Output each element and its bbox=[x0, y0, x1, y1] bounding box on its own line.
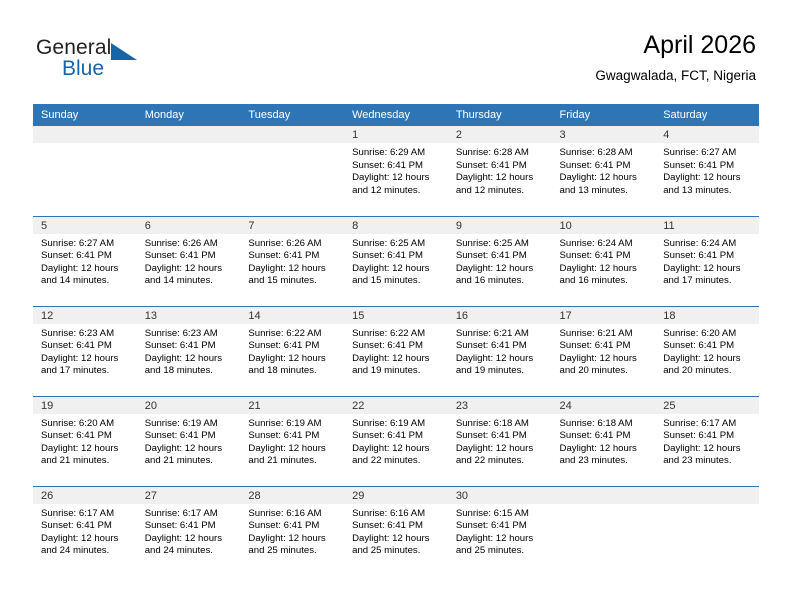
sunset-text: Sunset: 6:41 PM bbox=[41, 340, 131, 353]
sunset-text: Sunset: 6:41 PM bbox=[41, 250, 131, 263]
day-number: 13 bbox=[137, 307, 241, 324]
daylight-text-line1: Daylight: 12 hours bbox=[663, 353, 753, 366]
day-number bbox=[33, 126, 137, 143]
sunset-text: Sunset: 6:41 PM bbox=[663, 250, 753, 263]
sunset-text: Sunset: 6:41 PM bbox=[41, 430, 131, 443]
daylight-text-line2: and 24 minutes. bbox=[41, 545, 131, 558]
daylight-text-line1: Daylight: 12 hours bbox=[352, 443, 442, 456]
daylight-text-line2: and 13 minutes. bbox=[560, 185, 650, 198]
daylight-text-line1: Daylight: 12 hours bbox=[663, 263, 753, 276]
daylight-text-line2: and 14 minutes. bbox=[145, 275, 235, 288]
daylight-text-line1: Daylight: 12 hours bbox=[352, 172, 442, 185]
day-details: Sunrise: 6:20 AMSunset: 6:41 PMDaylight:… bbox=[33, 414, 137, 468]
daylight-text-line2: and 21 minutes. bbox=[145, 455, 235, 468]
sunset-text: Sunset: 6:41 PM bbox=[248, 430, 338, 443]
sunset-text: Sunset: 6:41 PM bbox=[456, 430, 546, 443]
sunrise-text: Sunrise: 6:25 AM bbox=[352, 238, 442, 251]
daylight-text-line1: Daylight: 12 hours bbox=[560, 443, 650, 456]
sunset-text: Sunset: 6:41 PM bbox=[145, 430, 235, 443]
day-number: 15 bbox=[344, 307, 448, 324]
daylight-text-line1: Daylight: 12 hours bbox=[352, 263, 442, 276]
day-number bbox=[240, 126, 344, 143]
sunset-text: Sunset: 6:41 PM bbox=[560, 340, 650, 353]
day-details: Sunrise: 6:29 AMSunset: 6:41 PMDaylight:… bbox=[344, 143, 448, 197]
day-details: Sunrise: 6:28 AMSunset: 6:41 PMDaylight:… bbox=[552, 143, 656, 197]
day-number: 11 bbox=[655, 217, 759, 234]
sunset-text: Sunset: 6:41 PM bbox=[352, 520, 442, 533]
calendar-day-cell[interactable]: 17Sunrise: 6:21 AMSunset: 6:41 PMDayligh… bbox=[552, 306, 656, 396]
day-details: Sunrise: 6:18 AMSunset: 6:41 PMDaylight:… bbox=[552, 414, 656, 468]
sunrise-text: Sunrise: 6:23 AM bbox=[145, 328, 235, 341]
daylight-text-line2: and 25 minutes. bbox=[352, 545, 442, 558]
daylight-text-line2: and 19 minutes. bbox=[456, 365, 546, 378]
sunrise-text: Sunrise: 6:26 AM bbox=[145, 238, 235, 251]
daylight-text-line1: Daylight: 12 hours bbox=[560, 353, 650, 366]
calendar-cell-empty bbox=[33, 126, 137, 216]
daylight-text-line2: and 12 minutes. bbox=[352, 185, 442, 198]
sunrise-text: Sunrise: 6:21 AM bbox=[456, 328, 546, 341]
day-details: Sunrise: 6:26 AMSunset: 6:41 PMDaylight:… bbox=[137, 234, 241, 288]
day-number: 30 bbox=[448, 487, 552, 504]
day-details: Sunrise: 6:22 AMSunset: 6:41 PMDaylight:… bbox=[344, 324, 448, 378]
day-details: Sunrise: 6:16 AMSunset: 6:41 PMDaylight:… bbox=[344, 504, 448, 558]
daylight-text-line1: Daylight: 12 hours bbox=[41, 263, 131, 276]
daylight-text-line1: Daylight: 12 hours bbox=[663, 172, 753, 185]
calendar-day-cell[interactable]: 28Sunrise: 6:16 AMSunset: 6:41 PMDayligh… bbox=[240, 486, 344, 576]
sunset-text: Sunset: 6:41 PM bbox=[352, 160, 442, 173]
sunrise-text: Sunrise: 6:19 AM bbox=[248, 418, 338, 431]
day-details: Sunrise: 6:17 AMSunset: 6:41 PMDaylight:… bbox=[33, 504, 137, 558]
daylight-text-line1: Daylight: 12 hours bbox=[41, 353, 131, 366]
calendar-day-cell[interactable]: 5Sunrise: 6:27 AMSunset: 6:41 PMDaylight… bbox=[33, 216, 137, 306]
sunrise-text: Sunrise: 6:22 AM bbox=[248, 328, 338, 341]
day-number: 1 bbox=[344, 126, 448, 143]
sunrise-text: Sunrise: 6:27 AM bbox=[41, 238, 131, 251]
sunrise-text: Sunrise: 6:21 AM bbox=[560, 328, 650, 341]
sunrise-text: Sunrise: 6:19 AM bbox=[352, 418, 442, 431]
daylight-text-line2: and 13 minutes. bbox=[663, 185, 753, 198]
daylight-text-line1: Daylight: 12 hours bbox=[663, 443, 753, 456]
calendar-cell-empty bbox=[137, 126, 241, 216]
daylight-text-line1: Daylight: 12 hours bbox=[352, 353, 442, 366]
day-details: Sunrise: 6:15 AMSunset: 6:41 PMDaylight:… bbox=[448, 504, 552, 558]
calendar-day-cell[interactable]: 6Sunrise: 6:26 AMSunset: 6:41 PMDaylight… bbox=[137, 216, 241, 306]
sunrise-text: Sunrise: 6:22 AM bbox=[352, 328, 442, 341]
weekday-header-saturday: Saturday bbox=[655, 104, 759, 126]
day-number bbox=[137, 126, 241, 143]
day-details: Sunrise: 6:21 AMSunset: 6:41 PMDaylight:… bbox=[552, 324, 656, 378]
calendar-day-cell[interactable]: 19Sunrise: 6:20 AMSunset: 6:41 PMDayligh… bbox=[33, 396, 137, 486]
day-number: 5 bbox=[33, 217, 137, 234]
daylight-text-line2: and 16 minutes. bbox=[456, 275, 546, 288]
day-number: 3 bbox=[552, 126, 656, 143]
daylight-text-line1: Daylight: 12 hours bbox=[456, 353, 546, 366]
day-number: 17 bbox=[552, 307, 656, 324]
daylight-text-line2: and 20 minutes. bbox=[663, 365, 753, 378]
day-number: 24 bbox=[552, 397, 656, 414]
calendar-day-cell[interactable]: 10Sunrise: 6:24 AMSunset: 6:41 PMDayligh… bbox=[552, 216, 656, 306]
daylight-text-line2: and 17 minutes. bbox=[41, 365, 131, 378]
weekday-header-monday: Monday bbox=[137, 104, 241, 126]
daylight-text-line1: Daylight: 12 hours bbox=[456, 533, 546, 546]
sunset-text: Sunset: 6:41 PM bbox=[352, 340, 442, 353]
sunrise-text: Sunrise: 6:27 AM bbox=[663, 147, 753, 160]
daylight-text-line2: and 25 minutes. bbox=[248, 545, 338, 558]
sunrise-text: Sunrise: 6:24 AM bbox=[560, 238, 650, 251]
sunrise-text: Sunrise: 6:17 AM bbox=[663, 418, 753, 431]
sunrise-text: Sunrise: 6:20 AM bbox=[41, 418, 131, 431]
sunset-text: Sunset: 6:41 PM bbox=[352, 430, 442, 443]
calendar-day-cell[interactable]: 8Sunrise: 6:25 AMSunset: 6:41 PMDaylight… bbox=[344, 216, 448, 306]
sunset-text: Sunset: 6:41 PM bbox=[663, 160, 753, 173]
day-number: 10 bbox=[552, 217, 656, 234]
calendar-day-cell[interactable]: 23Sunrise: 6:18 AMSunset: 6:41 PMDayligh… bbox=[448, 396, 552, 486]
sunset-text: Sunset: 6:41 PM bbox=[352, 250, 442, 263]
calendar-day-cell[interactable]: 16Sunrise: 6:21 AMSunset: 6:41 PMDayligh… bbox=[448, 306, 552, 396]
day-number: 28 bbox=[240, 487, 344, 504]
calendar-body: 1Sunrise: 6:29 AMSunset: 6:41 PMDaylight… bbox=[33, 126, 759, 576]
day-details: Sunrise: 6:27 AMSunset: 6:41 PMDaylight:… bbox=[655, 143, 759, 197]
day-details: Sunrise: 6:16 AMSunset: 6:41 PMDaylight:… bbox=[240, 504, 344, 558]
calendar-week-row: 5Sunrise: 6:27 AMSunset: 6:41 PMDaylight… bbox=[33, 216, 759, 306]
daylight-text-line1: Daylight: 12 hours bbox=[248, 443, 338, 456]
day-number: 26 bbox=[33, 487, 137, 504]
calendar-day-cell[interactable]: 21Sunrise: 6:19 AMSunset: 6:41 PMDayligh… bbox=[240, 396, 344, 486]
sunset-text: Sunset: 6:41 PM bbox=[456, 250, 546, 263]
general-blue-logo[interactable]: General Blue bbox=[36, 36, 156, 82]
sunset-text: Sunset: 6:41 PM bbox=[145, 340, 235, 353]
daylight-text-line1: Daylight: 12 hours bbox=[145, 533, 235, 546]
daylight-text-line2: and 25 minutes. bbox=[456, 545, 546, 558]
day-details: Sunrise: 6:19 AMSunset: 6:41 PMDaylight:… bbox=[240, 414, 344, 468]
daylight-text-line2: and 18 minutes. bbox=[145, 365, 235, 378]
calendar-day-cell[interactable]: 15Sunrise: 6:22 AMSunset: 6:41 PMDayligh… bbox=[344, 306, 448, 396]
day-details: Sunrise: 6:20 AMSunset: 6:41 PMDaylight:… bbox=[655, 324, 759, 378]
daylight-text-line1: Daylight: 12 hours bbox=[560, 172, 650, 185]
day-number: 23 bbox=[448, 397, 552, 414]
sunset-text: Sunset: 6:41 PM bbox=[456, 160, 546, 173]
daylight-text-line2: and 15 minutes. bbox=[352, 275, 442, 288]
day-details: Sunrise: 6:24 AMSunset: 6:41 PMDaylight:… bbox=[552, 234, 656, 288]
weekday-header-wednesday: Wednesday bbox=[344, 104, 448, 126]
day-details: Sunrise: 6:25 AMSunset: 6:41 PMDaylight:… bbox=[344, 234, 448, 288]
calendar-day-cell[interactable]: 27Sunrise: 6:17 AMSunset: 6:41 PMDayligh… bbox=[137, 486, 241, 576]
calendar-day-cell[interactable]: 4Sunrise: 6:27 AMSunset: 6:41 PMDaylight… bbox=[655, 126, 759, 216]
sunrise-text: Sunrise: 6:28 AM bbox=[456, 147, 546, 160]
daylight-text-line2: and 23 minutes. bbox=[663, 455, 753, 468]
weekday-header-sunday: Sunday bbox=[33, 104, 137, 126]
calendar-day-cell[interactable]: 22Sunrise: 6:19 AMSunset: 6:41 PMDayligh… bbox=[344, 396, 448, 486]
day-number: 25 bbox=[655, 397, 759, 414]
sunrise-text: Sunrise: 6:16 AM bbox=[248, 508, 338, 521]
sunset-text: Sunset: 6:41 PM bbox=[560, 160, 650, 173]
sunrise-text: Sunrise: 6:24 AM bbox=[663, 238, 753, 251]
calendar-day-cell[interactable]: 12Sunrise: 6:23 AMSunset: 6:41 PMDayligh… bbox=[33, 306, 137, 396]
daylight-text-line2: and 20 minutes. bbox=[560, 365, 650, 378]
day-number: 27 bbox=[137, 487, 241, 504]
daylight-text-line1: Daylight: 12 hours bbox=[560, 263, 650, 276]
day-details: Sunrise: 6:23 AMSunset: 6:41 PMDaylight:… bbox=[33, 324, 137, 378]
daylight-text-line1: Daylight: 12 hours bbox=[41, 533, 131, 546]
calendar-day-cell[interactable]: 29Sunrise: 6:16 AMSunset: 6:41 PMDayligh… bbox=[344, 486, 448, 576]
sunset-text: Sunset: 6:41 PM bbox=[560, 250, 650, 263]
calendar-day-cell[interactable]: 30Sunrise: 6:15 AMSunset: 6:41 PMDayligh… bbox=[448, 486, 552, 576]
sunset-text: Sunset: 6:41 PM bbox=[560, 430, 650, 443]
calendar-day-cell[interactable]: 24Sunrise: 6:18 AMSunset: 6:41 PMDayligh… bbox=[552, 396, 656, 486]
daylight-text-line1: Daylight: 12 hours bbox=[456, 263, 546, 276]
calendar-day-cell[interactable]: 18Sunrise: 6:20 AMSunset: 6:41 PMDayligh… bbox=[655, 306, 759, 396]
calendar-day-cell[interactable]: 25Sunrise: 6:17 AMSunset: 6:41 PMDayligh… bbox=[655, 396, 759, 486]
day-number: 19 bbox=[33, 397, 137, 414]
daylight-text-line1: Daylight: 12 hours bbox=[41, 443, 131, 456]
daylight-text-line2: and 22 minutes. bbox=[456, 455, 546, 468]
calendar-day-cell[interactable]: 3Sunrise: 6:28 AMSunset: 6:41 PMDaylight… bbox=[552, 126, 656, 216]
daylight-text-line1: Daylight: 12 hours bbox=[145, 443, 235, 456]
day-number: 6 bbox=[137, 217, 241, 234]
calendar-header-row: SundayMondayTuesdayWednesdayThursdayFrid… bbox=[33, 104, 759, 126]
daylight-text-line2: and 19 minutes. bbox=[352, 365, 442, 378]
day-details: Sunrise: 6:25 AMSunset: 6:41 PMDaylight:… bbox=[448, 234, 552, 288]
day-details: Sunrise: 6:17 AMSunset: 6:41 PMDaylight:… bbox=[137, 504, 241, 558]
daylight-text-line2: and 24 minutes. bbox=[145, 545, 235, 558]
daylight-text-line2: and 17 minutes. bbox=[663, 275, 753, 288]
calendar-day-cell[interactable]: 26Sunrise: 6:17 AMSunset: 6:41 PMDayligh… bbox=[33, 486, 137, 576]
day-details: Sunrise: 6:24 AMSunset: 6:41 PMDaylight:… bbox=[655, 234, 759, 288]
sunrise-text: Sunrise: 6:20 AM bbox=[663, 328, 753, 341]
daylight-text-line1: Daylight: 12 hours bbox=[248, 353, 338, 366]
daylight-text-line2: and 21 minutes. bbox=[248, 455, 338, 468]
day-number: 9 bbox=[448, 217, 552, 234]
daylight-text-line1: Daylight: 12 hours bbox=[248, 263, 338, 276]
day-details: Sunrise: 6:19 AMSunset: 6:41 PMDaylight:… bbox=[344, 414, 448, 468]
weekday-header: SundayMondayTuesdayWednesdayThursdayFrid… bbox=[33, 104, 759, 126]
day-number: 14 bbox=[240, 307, 344, 324]
day-details: Sunrise: 6:22 AMSunset: 6:41 PMDaylight:… bbox=[240, 324, 344, 378]
calendar-day-cell[interactable]: 20Sunrise: 6:19 AMSunset: 6:41 PMDayligh… bbox=[137, 396, 241, 486]
day-number: 22 bbox=[344, 397, 448, 414]
sunset-text: Sunset: 6:41 PM bbox=[41, 520, 131, 533]
day-details: Sunrise: 6:26 AMSunset: 6:41 PMDaylight:… bbox=[240, 234, 344, 288]
sunrise-text: Sunrise: 6:25 AM bbox=[456, 238, 546, 251]
page-header: General Blue April 2026 Gwagwalada, FCT,… bbox=[0, 0, 792, 96]
weekday-header-tuesday: Tuesday bbox=[240, 104, 344, 126]
daylight-text-line1: Daylight: 12 hours bbox=[248, 533, 338, 546]
logo-triangle-icon bbox=[111, 43, 137, 60]
sunset-text: Sunset: 6:41 PM bbox=[248, 340, 338, 353]
sunrise-text: Sunrise: 6:29 AM bbox=[352, 147, 442, 160]
sunrise-text: Sunrise: 6:19 AM bbox=[145, 418, 235, 431]
sunset-text: Sunset: 6:41 PM bbox=[248, 520, 338, 533]
calendar-day-cell[interactable]: 14Sunrise: 6:22 AMSunset: 6:41 PMDayligh… bbox=[240, 306, 344, 396]
day-number bbox=[655, 487, 759, 504]
calendar-week-row: 19Sunrise: 6:20 AMSunset: 6:41 PMDayligh… bbox=[33, 396, 759, 486]
calendar-day-cell[interactable]: 1Sunrise: 6:29 AMSunset: 6:41 PMDaylight… bbox=[344, 126, 448, 216]
day-details: Sunrise: 6:17 AMSunset: 6:41 PMDaylight:… bbox=[655, 414, 759, 468]
daylight-text-line1: Daylight: 12 hours bbox=[456, 443, 546, 456]
calendar-week-row: 12Sunrise: 6:23 AMSunset: 6:41 PMDayligh… bbox=[33, 306, 759, 396]
title-block: April 2026 Gwagwalada, FCT, Nigeria bbox=[595, 30, 756, 86]
day-number bbox=[552, 487, 656, 504]
day-details: Sunrise: 6:27 AMSunset: 6:41 PMDaylight:… bbox=[33, 234, 137, 288]
day-details: Sunrise: 6:19 AMSunset: 6:41 PMDaylight:… bbox=[137, 414, 241, 468]
calendar-page: General Blue April 2026 Gwagwalada, FCT,… bbox=[0, 0, 792, 612]
day-number: 4 bbox=[655, 126, 759, 143]
sunset-text: Sunset: 6:41 PM bbox=[663, 430, 753, 443]
logo-text-blue: Blue bbox=[62, 57, 104, 81]
daylight-text-line1: Daylight: 12 hours bbox=[352, 533, 442, 546]
sunset-text: Sunset: 6:41 PM bbox=[145, 250, 235, 263]
sunset-text: Sunset: 6:41 PM bbox=[248, 250, 338, 263]
day-number: 8 bbox=[344, 217, 448, 234]
day-number: 16 bbox=[448, 307, 552, 324]
daylight-text-line2: and 14 minutes. bbox=[41, 275, 131, 288]
day-number: 12 bbox=[33, 307, 137, 324]
calendar-week-row: 1Sunrise: 6:29 AMSunset: 6:41 PMDaylight… bbox=[33, 126, 759, 216]
daylight-text-line2: and 22 minutes. bbox=[352, 455, 442, 468]
calendar-week-row: 26Sunrise: 6:17 AMSunset: 6:41 PMDayligh… bbox=[33, 486, 759, 576]
calendar-cell-empty bbox=[655, 486, 759, 576]
daylight-text-line2: and 16 minutes. bbox=[560, 275, 650, 288]
day-details: Sunrise: 6:23 AMSunset: 6:41 PMDaylight:… bbox=[137, 324, 241, 378]
calendar-cell-empty bbox=[552, 486, 656, 576]
daylight-text-line1: Daylight: 12 hours bbox=[145, 263, 235, 276]
daylight-text-line2: and 21 minutes. bbox=[41, 455, 131, 468]
sunset-text: Sunset: 6:41 PM bbox=[456, 520, 546, 533]
sunset-text: Sunset: 6:41 PM bbox=[663, 340, 753, 353]
daylight-text-line2: and 15 minutes. bbox=[248, 275, 338, 288]
day-number: 20 bbox=[137, 397, 241, 414]
sunrise-text: Sunrise: 6:15 AM bbox=[456, 508, 546, 521]
daylight-text-line1: Daylight: 12 hours bbox=[145, 353, 235, 366]
sunrise-text: Sunrise: 6:16 AM bbox=[352, 508, 442, 521]
daylight-text-line2: and 18 minutes. bbox=[248, 365, 338, 378]
day-number: 7 bbox=[240, 217, 344, 234]
calendar-day-cell[interactable]: 9Sunrise: 6:25 AMSunset: 6:41 PMDaylight… bbox=[448, 216, 552, 306]
calendar-day-cell[interactable]: 13Sunrise: 6:23 AMSunset: 6:41 PMDayligh… bbox=[137, 306, 241, 396]
sunrise-text: Sunrise: 6:18 AM bbox=[560, 418, 650, 431]
sunrise-text: Sunrise: 6:26 AM bbox=[248, 238, 338, 251]
day-number: 21 bbox=[240, 397, 344, 414]
day-number: 29 bbox=[344, 487, 448, 504]
day-details: Sunrise: 6:18 AMSunset: 6:41 PMDaylight:… bbox=[448, 414, 552, 468]
sunrise-text: Sunrise: 6:18 AM bbox=[456, 418, 546, 431]
day-details: Sunrise: 6:21 AMSunset: 6:41 PMDaylight:… bbox=[448, 324, 552, 378]
sunset-text: Sunset: 6:41 PM bbox=[456, 340, 546, 353]
calendar-day-cell[interactable]: 11Sunrise: 6:24 AMSunset: 6:41 PMDayligh… bbox=[655, 216, 759, 306]
weekday-header-friday: Friday bbox=[552, 104, 656, 126]
calendar-day-cell[interactable]: 2Sunrise: 6:28 AMSunset: 6:41 PMDaylight… bbox=[448, 126, 552, 216]
daylight-text-line2: and 12 minutes. bbox=[456, 185, 546, 198]
page-subtitle: Gwagwalada, FCT, Nigeria bbox=[595, 66, 756, 86]
day-number: 18 bbox=[655, 307, 759, 324]
calendar-cell-empty bbox=[240, 126, 344, 216]
sunrise-text: Sunrise: 6:17 AM bbox=[145, 508, 235, 521]
daylight-text-line2: and 23 minutes. bbox=[560, 455, 650, 468]
page-title: April 2026 bbox=[595, 30, 756, 60]
calendar-table: SundayMondayTuesdayWednesdayThursdayFrid… bbox=[33, 104, 759, 576]
weekday-header-thursday: Thursday bbox=[448, 104, 552, 126]
daylight-text-line1: Daylight: 12 hours bbox=[456, 172, 546, 185]
sunrise-text: Sunrise: 6:23 AM bbox=[41, 328, 131, 341]
sunrise-text: Sunrise: 6:28 AM bbox=[560, 147, 650, 160]
day-number: 2 bbox=[448, 126, 552, 143]
calendar-day-cell[interactable]: 7Sunrise: 6:26 AMSunset: 6:41 PMDaylight… bbox=[240, 216, 344, 306]
day-details: Sunrise: 6:28 AMSunset: 6:41 PMDaylight:… bbox=[448, 143, 552, 197]
sunset-text: Sunset: 6:41 PM bbox=[145, 520, 235, 533]
sunrise-text: Sunrise: 6:17 AM bbox=[41, 508, 131, 521]
